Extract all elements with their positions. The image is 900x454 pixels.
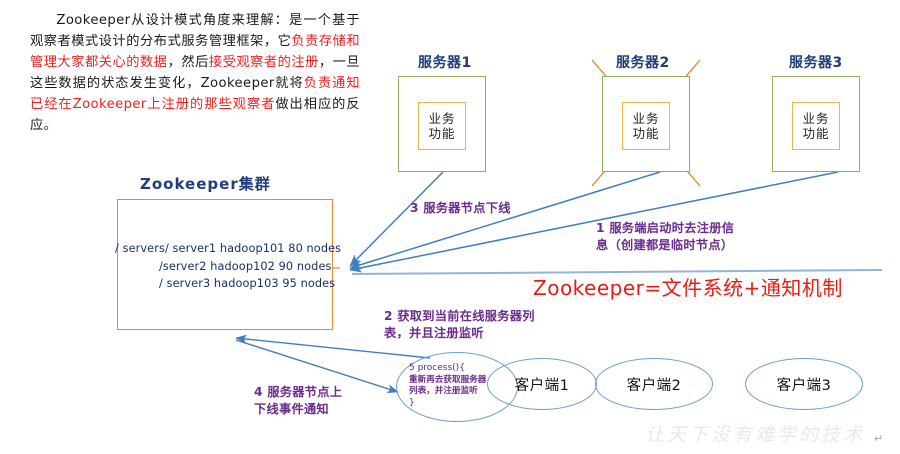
- zookeeper-cluster-title: Zookeeper集群: [140, 173, 271, 194]
- server3-biz-line2: 功能: [802, 126, 829, 141]
- server3-biz-line1: 业务: [802, 111, 829, 126]
- znode-line-1: / servers/ server1 hadoop101 80 nodes: [115, 240, 337, 258]
- server1-biz-line2: 功能: [428, 126, 455, 141]
- client-2-label: 客户端2: [627, 374, 682, 395]
- process-line-3: 列表，并注册监听: [409, 386, 478, 396]
- server2-business-module: 业务 功能: [622, 102, 670, 150]
- annotation-1-server-register: 1 服务端启动时去注册信 息（创建都是临时节点）: [596, 220, 734, 254]
- server3-title: 服务器3: [789, 52, 843, 72]
- process-line-2: 重新再去获取服务器: [409, 375, 486, 385]
- server1-business-module: 业务 功能: [418, 102, 466, 150]
- client-3-label: 客户端3: [777, 374, 832, 395]
- client-3-node: 客户端3: [745, 358, 863, 410]
- intro-paragraph: Zookeeper从设计模式角度来理解：是一个基于观察者模式设计的分布式服务管理…: [30, 10, 360, 136]
- server2-biz-line1: 业务: [632, 111, 659, 126]
- zookeeper-znode-list: / servers/ server1 hadoop101 80 nodes /s…: [117, 240, 337, 293]
- server2-biz-line2: 功能: [632, 126, 659, 141]
- zookeeper-definition-banner: Zookeeper=文件系统+通知机制: [533, 272, 843, 301]
- znode-line-3: / server3 hadoop103 95 nodes: [159, 275, 337, 293]
- znode-line-2: /server2 hadoop102 90 nodes: [159, 258, 337, 276]
- process-line-4: }: [409, 398, 415, 408]
- client-1-node: 客户端1: [487, 358, 597, 410]
- annotation-2-get-server-list: 2 获取到当前在线服务器列 表，并且注册监听: [384, 308, 535, 342]
- client-1-label: 客户端1: [515, 374, 570, 395]
- server3-business-module: 业务 功能: [792, 102, 840, 150]
- annotation-4-node-change-notify: 4 服务器节点上 下线事件通知: [254, 384, 342, 418]
- server1-title: 服务器1: [418, 52, 472, 72]
- watermark-text: 让天下没有难学的技术: [645, 420, 865, 447]
- intro-seg-4: 接受观察者的注册: [209, 55, 319, 70]
- paragraph-mark-icon: ↵: [874, 432, 883, 445]
- server2-title: 服务器2: [616, 52, 670, 72]
- intro-seg-3: ，然后: [168, 55, 209, 70]
- server1-biz-line1: 业务: [428, 111, 455, 126]
- process-line-1: 5 process(){: [409, 363, 465, 373]
- server-to-zookeeper-arrows: [350, 172, 838, 270]
- annotation-3-server-offline: 3 服务器节点下线: [410, 200, 511, 217]
- client-2-node: 客户端2: [595, 358, 713, 410]
